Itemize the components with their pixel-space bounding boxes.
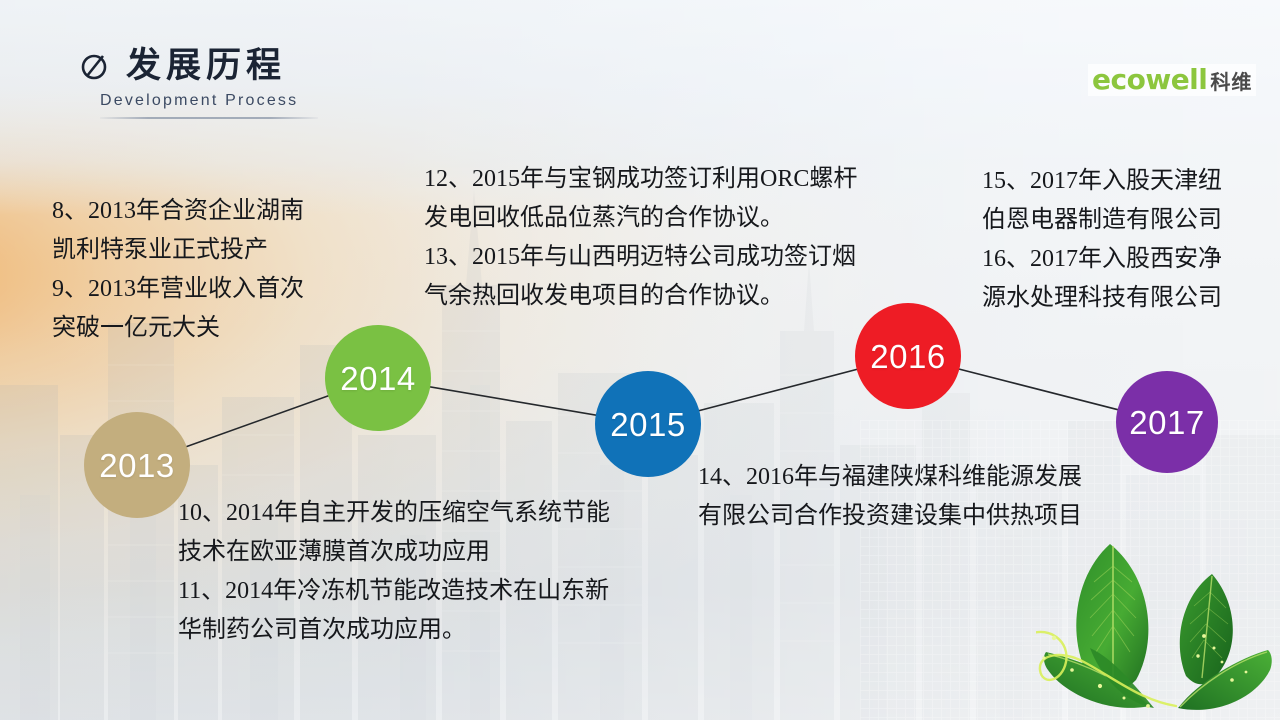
- timeline-node-2013[interactable]: 2013: [84, 412, 190, 518]
- milestone-block-2016: 14、2016年与福建陕煤科维能源发展 有限公司合作投资建设集中供热项目: [698, 458, 1082, 536]
- milestone-line: 发电回收低品位蒸汽的合作协议。: [424, 199, 857, 238]
- milestone-line: 14、2016年与福建陕煤科维能源发展: [698, 458, 1082, 497]
- milestone-block-2014: 10、2014年自主开发的压缩空气系统节能 技术在欧亚薄膜首次成功应用 11、2…: [178, 494, 610, 650]
- milestone-line: 华制药公司首次成功应用。: [178, 611, 610, 650]
- milestone-line: 有限公司合作投资建设集中供热项目: [698, 497, 1082, 536]
- milestone-line: 9、2013年营业收入首次: [52, 270, 304, 309]
- milestone-line: 技术在欧亚薄膜首次成功应用: [178, 533, 610, 572]
- timeline-node-2014[interactable]: 2014: [325, 325, 431, 431]
- milestone-line: 11、2014年冷冻机节能改造技术在山东新: [178, 572, 610, 611]
- milestone-line: 12、2015年与宝钢成功签订利用ORC螺杆: [424, 160, 857, 199]
- timeline-node-year-label: 2016: [870, 340, 945, 373]
- milestone-line: 10、2014年自主开发的压缩空气系统节能: [178, 494, 610, 533]
- timeline-node-2016[interactable]: 2016: [855, 303, 961, 409]
- milestone-line: 16、2017年入股西安净: [982, 240, 1222, 279]
- timeline-node-year-label: 2017: [1129, 406, 1204, 439]
- timeline-node-2017[interactable]: 2017: [1116, 371, 1218, 473]
- milestone-line: 气余热回收发电项目的合作协议。: [424, 277, 857, 316]
- timeline-node-2015[interactable]: 2015: [595, 371, 701, 477]
- timeline-node-year-label: 2013: [99, 449, 174, 482]
- slide-canvas: 发展历程 Development Process ecowell 科维 2013…: [0, 0, 1280, 720]
- green-leaves-icon: [1036, 530, 1276, 720]
- milestone-line: 突破一亿元大关: [52, 309, 304, 348]
- milestone-line: 8、2013年合资企业湖南: [52, 192, 304, 231]
- milestone-line: 源水处理科技有限公司: [982, 279, 1222, 318]
- timeline-node-year-label: 2015: [610, 408, 685, 441]
- milestone-block-2013: 8、2013年合资企业湖南 凯利特泵业正式投产 9、2013年营业收入首次 突破…: [52, 192, 304, 348]
- milestone-block-2015: 12、2015年与宝钢成功签订利用ORC螺杆 发电回收低品位蒸汽的合作协议。 1…: [424, 160, 857, 316]
- milestone-line: 15、2017年入股天津纽: [982, 162, 1222, 201]
- milestone-line: 13、2015年与山西明迈特公司成功签订烟: [424, 238, 857, 277]
- milestone-line: 凯利特泵业正式投产: [52, 231, 304, 270]
- milestone-block-2017: 15、2017年入股天津纽 伯恩电器制造有限公司 16、2017年入股西安净 源…: [982, 162, 1222, 318]
- milestone-line: 伯恩电器制造有限公司: [982, 201, 1222, 240]
- timeline-node-year-label: 2014: [340, 362, 415, 395]
